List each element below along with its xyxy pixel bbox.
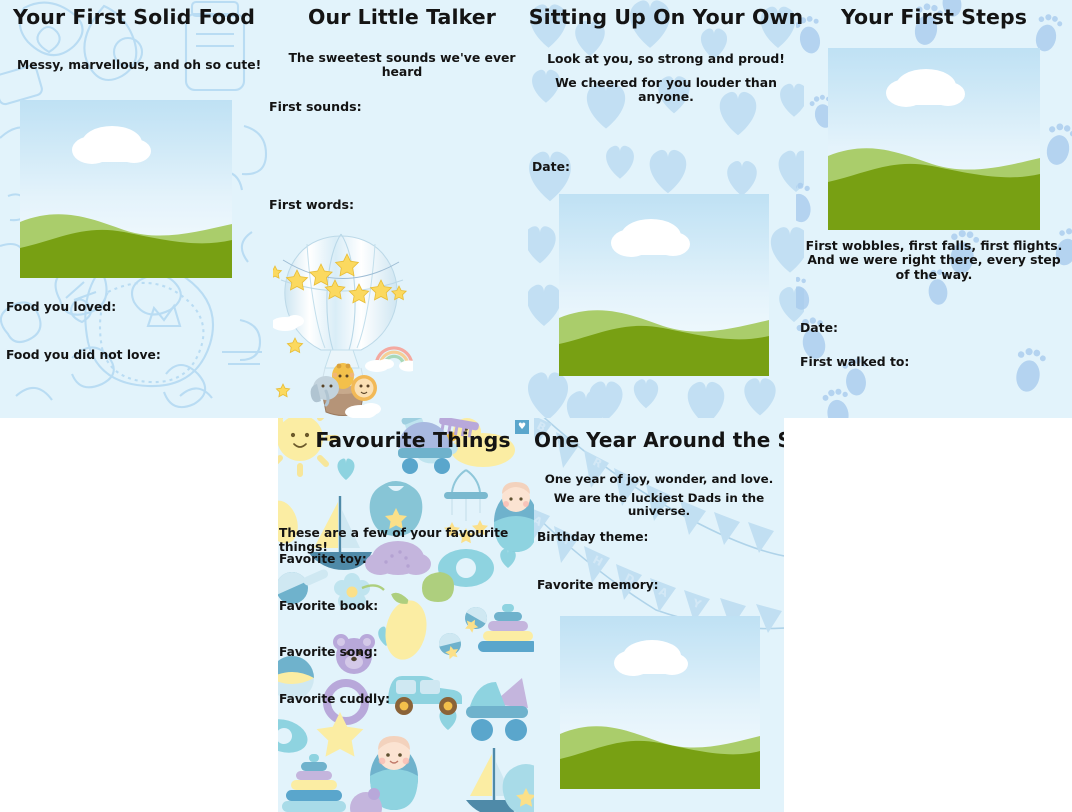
page-line-2: We cheered for you louder than anyone. <box>528 76 804 105</box>
field-label-birthday-theme[interactable]: Birthday theme: <box>537 530 648 544</box>
page-subtitle: The sweetest sounds we've ever heard <box>268 51 536 80</box>
field-label-first-words[interactable]: First words: <box>269 198 354 212</box>
page-subtitle: Messy, marvellous, and oh so cute! <box>0 58 268 72</box>
landscape-artwork <box>560 616 760 789</box>
page-little-talker[interactable]: Our Little Talker The sweetest sounds we… <box>268 0 536 418</box>
page-sitting-up[interactable]: Sitting Up On Your Own Look at you, so s… <box>528 0 804 418</box>
swaddled-baby-icon <box>370 736 418 810</box>
pacifier-icon <box>278 710 311 771</box>
pacifier-icon <box>422 549 494 602</box>
svg-text:R: R <box>591 455 605 471</box>
field-label-favorite-book[interactable]: Favorite book: <box>279 599 378 613</box>
bib-icon <box>503 764 534 812</box>
pattern-baby-toys <box>278 418 534 812</box>
page-title: Your First Solid Food <box>0 7 268 29</box>
page-line-1: Look at you, so strong and proud! <box>528 52 804 66</box>
field-label-food-not-loved[interactable]: Food you did not love: <box>6 348 161 362</box>
hot-air-balloon-icon <box>273 218 413 418</box>
cloud-shape <box>886 69 965 107</box>
page-title: Sitting Up On Your Own <box>528 7 804 29</box>
field-label-favorite-cuddly[interactable]: Favorite cuddly: <box>279 692 390 706</box>
cloud-shape <box>611 219 690 257</box>
page-line-1: One year of joy, wonder, and love. <box>534 473 784 487</box>
landscape-artwork <box>828 48 1040 230</box>
field-label-date[interactable]: Date: <box>532 160 570 174</box>
star-icon <box>317 712 364 757</box>
page-title: Our Little Talker <box>268 7 536 29</box>
heart-badge[interactable]: ♥ <box>515 420 529 434</box>
field-label-food-loved[interactable]: Food you loved: <box>6 300 116 314</box>
svg-text:Y: Y <box>690 596 704 611</box>
field-label-favorite-memory[interactable]: Favorite memory: <box>537 578 659 592</box>
page-title: Your First Steps <box>796 7 1072 29</box>
field-label-favorite-toy[interactable]: Favorite toy: <box>279 552 367 566</box>
svg-text:H: H <box>591 553 605 569</box>
page-title: One Year Around the Sun <box>534 430 784 451</box>
rattle-icon <box>459 603 491 636</box>
page-first-steps[interactable]: Your First Steps First wobbles, first fa… <box>796 0 1072 418</box>
sailboat-icon <box>466 748 524 812</box>
field-label-first-sounds[interactable]: First sounds: <box>269 100 362 114</box>
landscape-artwork <box>20 100 232 278</box>
page-favourite-things[interactable]: ♥ Favourite Things These are a few of yo… <box>278 418 534 812</box>
cloud-shape <box>72 126 151 164</box>
page-line-2: And we were right there, every step of t… <box>800 253 1068 282</box>
lemon-icon <box>378 592 433 664</box>
pram-icon <box>466 678 528 741</box>
page-subtitle: These are a few of your favourite things… <box>279 526 534 554</box>
field-label-date[interactable]: Date: <box>800 321 838 335</box>
car-icon <box>388 676 462 715</box>
cloud-shape <box>614 640 688 676</box>
page-line-1: First wobbles, first falls, first flight… <box>800 239 1068 253</box>
stacking-rings-icon <box>282 754 346 812</box>
page-title: Favourite Things <box>278 430 534 452</box>
teether-icon <box>350 788 382 812</box>
field-label-favorite-song[interactable]: Favorite song: <box>279 645 378 659</box>
stacking-rings-icon <box>478 604 534 652</box>
page-lines-block: First wobbles, first falls, first flight… <box>800 239 1068 282</box>
page-first-solid-food[interactable]: Your First Solid Food Messy, marvellous,… <box>0 0 268 418</box>
field-label-first-walked-to[interactable]: First walked to: <box>800 355 909 369</box>
rattle-icon <box>437 631 465 661</box>
page-one-year-around-the-sun[interactable]: B I R T H A T H D A Y One Year Around th… <box>534 418 784 812</box>
landscape-artwork <box>559 194 769 376</box>
milestone-book-spread: Your First Solid Food Messy, marvellous,… <box>0 0 1072 812</box>
page-line-2: We are the luckiest Dads in the universe… <box>534 492 784 519</box>
svg-text:A: A <box>657 585 670 600</box>
